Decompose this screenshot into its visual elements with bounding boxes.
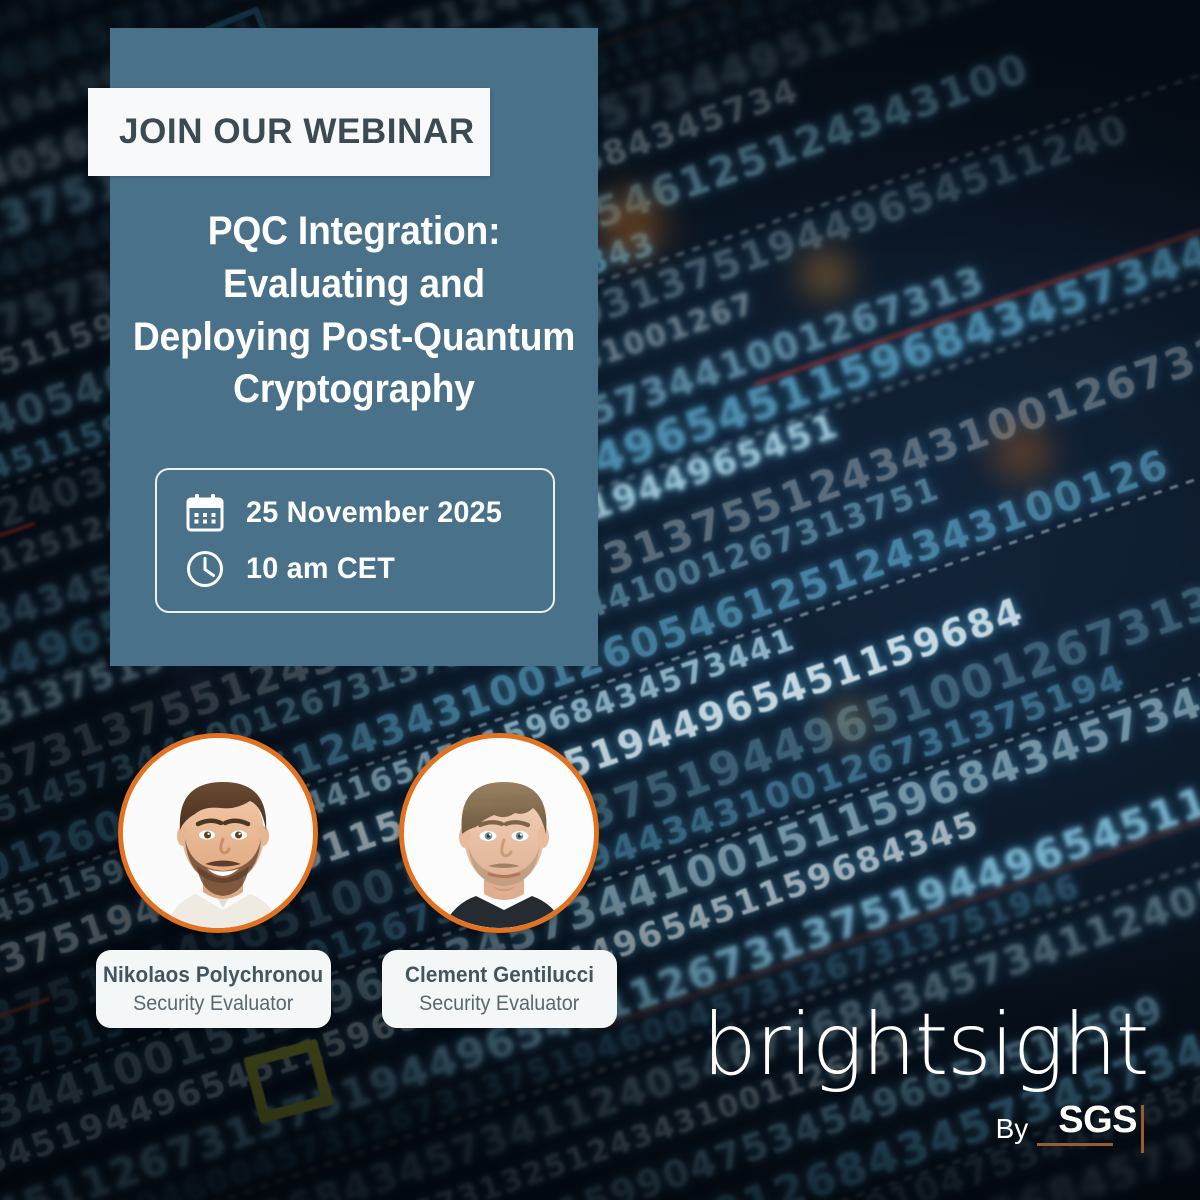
date-value: 25 November 2025 xyxy=(246,496,502,530)
brightsight-logo: brightsight xyxy=(702,1002,1148,1088)
sgs-rule-vertical xyxy=(1141,1105,1144,1153)
webinar-title: PQC Integration:Evaluating andDeploying … xyxy=(127,205,581,416)
webinar-promo-poster: 0045731267313751946004573126731375194600… xyxy=(0,0,1200,1200)
webinar-title-line-2: Deploying Post-Quantum xyxy=(127,311,581,364)
avatar xyxy=(399,733,599,933)
speaker-name: Nikolaos Polychronou xyxy=(103,962,323,988)
speaker-role: Security Evaluator xyxy=(133,992,293,1016)
banner-label: JOIN OUR WEBINAR xyxy=(119,112,475,152)
by-sgs-lockup: By SGS xyxy=(996,1101,1146,1148)
sgs-rule-horizontal xyxy=(1037,1143,1113,1146)
speaker-card: Clement Gentilucci Security Evaluator xyxy=(382,950,617,1028)
calendar-icon xyxy=(184,492,226,534)
date-time-box: 25 November 2025 10 am CET xyxy=(155,468,555,613)
webinar-title-line-0: PQC Integration: xyxy=(127,205,581,258)
speaker-role: Security Evaluator xyxy=(419,992,579,1016)
sgs-logo: SGS xyxy=(1045,1101,1146,1148)
speaker-card: Nikolaos Polychronou Security Evaluator xyxy=(96,950,331,1028)
clock-icon xyxy=(184,548,226,590)
speaker-photo xyxy=(123,738,313,928)
join-webinar-banner: JOIN OUR WEBINAR xyxy=(88,88,490,176)
by-label: By xyxy=(996,1115,1029,1148)
webinar-title-line-3: Cryptography xyxy=(127,363,581,416)
sgs-wordmark: SGS xyxy=(1058,1101,1137,1139)
webinar-title-line-1: Evaluating and xyxy=(127,258,581,311)
time-value: 10 am CET xyxy=(246,552,395,586)
avatar xyxy=(118,733,318,933)
speaker-photo xyxy=(404,738,594,928)
time-row: 10 am CET xyxy=(184,548,553,590)
date-row: 25 November 2025 xyxy=(184,492,553,534)
speaker-name: Clement Gentilucci xyxy=(405,962,594,988)
